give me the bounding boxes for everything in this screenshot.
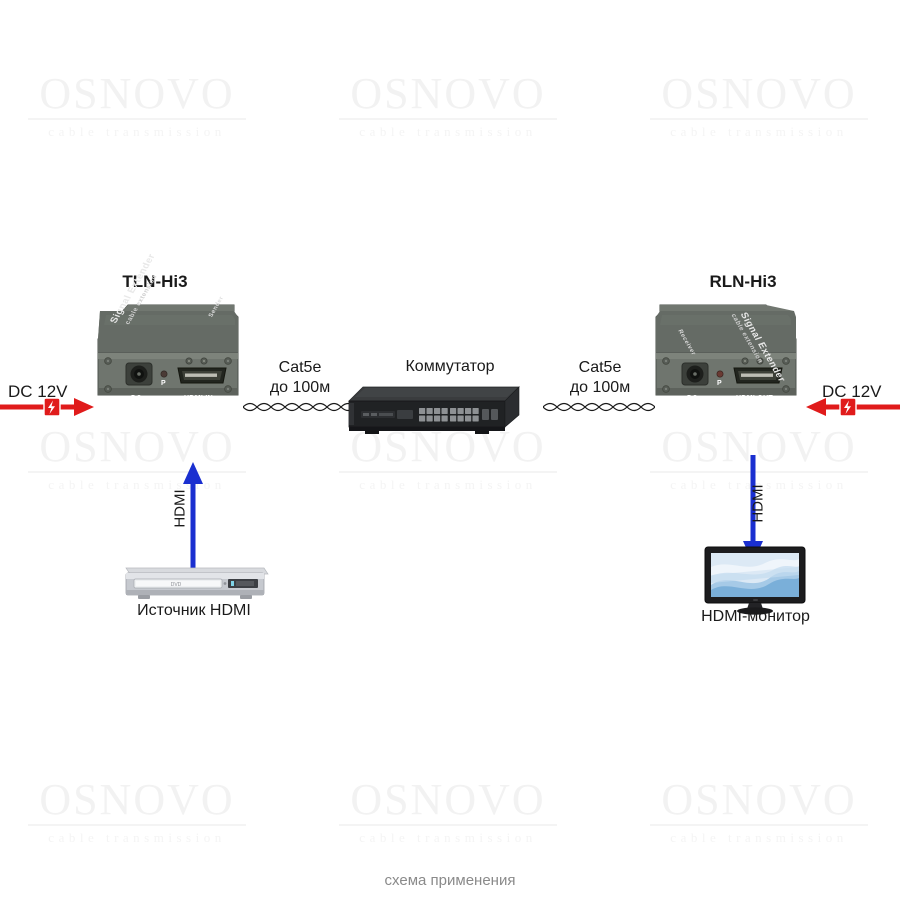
monitor-link-label: HDMI	[750, 474, 767, 534]
watermark-subtitle: cable transmission	[22, 477, 252, 493]
receiver-hdmi-label: HDMI OUT	[736, 395, 773, 402]
receiver-body	[648, 295, 808, 435]
watermark-rule	[339, 118, 557, 120]
left-twisted-pair-cable	[243, 398, 355, 421]
watermark-title: OSNOVO	[333, 72, 563, 116]
watermark-rule	[28, 824, 246, 826]
watermark-subtitle: cable transmission	[22, 830, 252, 846]
transmitter-body	[86, 295, 246, 435]
device-switch[interactable]	[345, 383, 525, 440]
watermark-subtitle: cable transmission	[22, 124, 252, 140]
watermark-logo: OSNOVO cable transmission	[333, 778, 563, 846]
switch-label: Коммутатор	[375, 358, 525, 376]
watermark-rule	[650, 118, 868, 120]
watermark-logo: OSNOVO cable transmission	[22, 72, 252, 140]
watermark-logo: OSNOVO cable transmission	[22, 425, 252, 493]
watermark-title: OSNOVO	[644, 778, 874, 822]
receiver-dc-label: DC	[687, 395, 698, 402]
receiver-power-arrow	[804, 394, 900, 425]
watermark-subtitle: cable transmission	[333, 124, 563, 140]
watermark-logo: OSNOVO cable transmission	[333, 72, 563, 140]
right-twisted-pair-cable	[543, 398, 655, 421]
watermark-rule	[28, 471, 246, 473]
left-cable-distance: до 100м	[270, 379, 330, 396]
watermark-title: OSNOVO	[333, 778, 563, 822]
watermark-rule	[28, 118, 246, 120]
source-label: Источник HDMI	[114, 602, 274, 620]
receiver-led-label: P	[717, 380, 722, 387]
watermark-subtitle: cable transmission	[644, 124, 874, 140]
receiver-title: RLN-Hi3	[678, 272, 808, 292]
right-cable-distance: до 100м	[570, 379, 630, 396]
transmitter-hdmi-label: HDMI IN	[184, 395, 213, 402]
watermark-rule	[339, 471, 557, 473]
monitor-label: HDMI-монитор	[678, 608, 833, 626]
transmitter-led-label: P	[161, 380, 166, 387]
transmitter-dc-label: DC	[131, 395, 142, 402]
svg-text:DVD: DVD	[171, 582, 182, 588]
left-cable-label: Cat5e до 100м	[255, 358, 345, 398]
watermark-logo: OSNOVO cable transmission	[22, 778, 252, 846]
diagram-canvas: OSNOVO cable transmission OSNOVO cable t…	[0, 0, 900, 900]
watermark-logo: OSNOVO cable transmission	[644, 778, 874, 846]
watermark-rule	[650, 824, 868, 826]
watermark-title: OSNOVO	[22, 778, 252, 822]
transmitter-power-arrow	[0, 394, 96, 425]
left-cable-type: Cat5e	[279, 359, 322, 376]
watermark-title: OSNOVO	[644, 72, 874, 116]
watermark-subtitle: cable transmission	[333, 830, 563, 846]
device-transmitter[interactable]: Signal Extender cable extension Sender D…	[86, 295, 246, 435]
diagram-caption: схема применения	[0, 872, 900, 889]
watermark-rule	[339, 824, 557, 826]
watermark-subtitle: cable transmission	[333, 477, 563, 493]
watermark-title: OSNOVO	[22, 72, 252, 116]
watermark-subtitle: cable transmission	[644, 830, 874, 846]
device-receiver[interactable]: Signal Extender cable extension Receiver…	[648, 295, 808, 435]
right-cable-label: Cat5e до 100м	[555, 358, 645, 398]
transmitter-title: TLN-Hi3	[90, 272, 220, 292]
watermark-logo: OSNOVO cable transmission	[644, 72, 874, 140]
source-link-label: HDMI	[172, 479, 189, 539]
right-cable-type: Cat5e	[579, 359, 622, 376]
